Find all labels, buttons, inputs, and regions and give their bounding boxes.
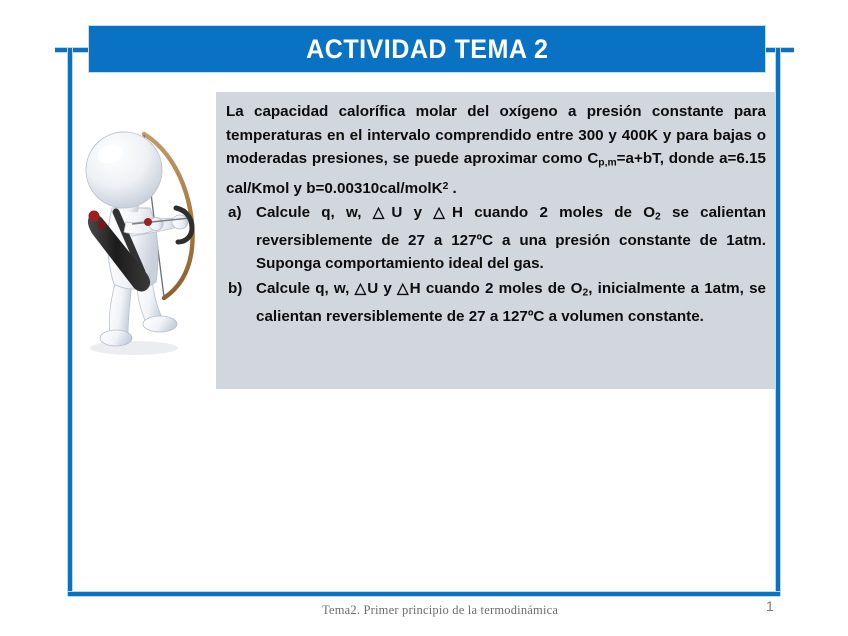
item-a-seg1: Calcule q, w, <box>256 204 373 221</box>
frame-right-border <box>776 48 780 596</box>
list-item: a) Calcule q, w, △U y △H cuando 2 moles … <box>226 201 766 276</box>
footer-label: Tema2. Primer principio de la termodinám… <box>322 603 558 618</box>
delta-icon: △ <box>433 204 452 221</box>
item-marker-a: a) <box>226 201 256 225</box>
delta-icon: △ <box>373 204 392 221</box>
problem-statement-box: La capacidad calorífica molar del oxígen… <box>216 92 776 389</box>
slide-title-banner: ACTIVIDAD TEMA 2 <box>88 25 766 73</box>
intro-line-1: La capacidad calorífica molar del oxígen… <box>226 103 724 120</box>
frame-bottom-border <box>68 592 780 596</box>
cpm-subscript: p,m <box>598 157 616 168</box>
intro-line-5-post: . <box>448 180 456 197</box>
item-b-seg3: H cuando 2 moles de O <box>410 280 583 297</box>
item-b-seg1: Calcule q, w, <box>256 280 355 297</box>
item-marker-b: b) <box>226 277 256 301</box>
item-b-seg2: U y <box>367 280 397 297</box>
item-body-a: Calcule q, w, △U y △H cuando 2 moles de … <box>256 201 766 276</box>
delta-icon: △ <box>397 280 410 297</box>
delta-icon: △ <box>355 280 368 297</box>
page-title: ACTIVIDAD TEMA 2 <box>306 34 548 65</box>
problem-intro-paragraph: La capacidad calorífica molar del oxígen… <box>226 100 766 200</box>
item-a-seg2: U y <box>391 204 433 221</box>
list-item: b) Calcule q, w, △U y △H cuando 2 moles … <box>226 277 766 328</box>
item-a-seg3: H cuando 2 moles de O <box>452 204 655 221</box>
problem-items-list: a) Calcule q, w, △U y △H cuando 2 moles … <box>226 201 766 328</box>
intro-line-5-pre: b=0.00310cal/molK <box>306 180 442 197</box>
page-number: 1 <box>766 598 774 614</box>
archer-illustration <box>72 112 220 360</box>
intro-line-4-pre: aproximar como C <box>464 150 599 167</box>
item-body-b: Calcule q, w, △U y △H cuando 2 moles de … <box>256 277 766 328</box>
